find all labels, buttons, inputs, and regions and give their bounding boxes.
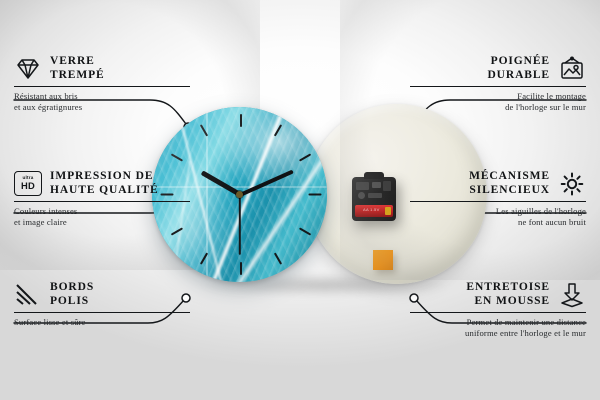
- ultra-hd-icon: ultra HD: [14, 171, 42, 197]
- feature-divider: [410, 312, 586, 313]
- feature-entretoise-en-mousse: ENTRETOISE EN MOUSSE Permet de maintenir…: [410, 281, 586, 339]
- feature-title: ENTRETOISE EN MOUSSE: [466, 281, 550, 308]
- feature-header: VERRE TREMPÉ: [14, 55, 190, 82]
- foam-spacer: [373, 250, 393, 270]
- battery-label: AA 1.5V: [363, 207, 380, 212]
- feature-title: POIGNÉE DURABLE: [487, 55, 550, 82]
- feature-title: VERRE TREMPÉ: [50, 55, 105, 82]
- feature-header: MÉCANISME SILENCIEUX: [410, 170, 586, 197]
- feature-header: ultra HD IMPRESSION DE HAUTE QUALITÉ: [14, 170, 190, 197]
- feature-description: Couleurs intenses et image claire: [14, 206, 190, 228]
- feature-verre-trempe: VERRE TREMPÉ Résistant aux bris et aux é…: [14, 55, 190, 113]
- feature-header: POIGNÉE DURABLE: [410, 55, 586, 82]
- feature-description: Permet de maintenir une distance uniform…: [410, 317, 586, 339]
- feature-divider: [14, 312, 190, 313]
- feature-description: Facilite le montage de l'horloge sur le …: [410, 91, 586, 113]
- polished-edges-icon: [14, 282, 42, 308]
- diamond-icon: [14, 56, 42, 82]
- feature-description: Les aiguilles de l'horloge ne font aucun…: [410, 206, 586, 228]
- mechanism-hanger: [364, 172, 384, 179]
- clock-mechanism: AA 1.5V: [352, 177, 396, 221]
- feature-divider: [14, 201, 190, 202]
- hanging-frame-icon: [558, 56, 586, 82]
- feature-mecanisme-silencieux: MÉCANISME SILENCIEUX Les aiguilles de l'…: [410, 170, 586, 228]
- feature-header: ENTRETOISE EN MOUSSE: [410, 281, 586, 308]
- feature-title: IMPRESSION DE HAUTE QUALITÉ: [50, 170, 159, 197]
- gear-icon: [558, 171, 586, 197]
- feature-title: BORDS POLIS: [50, 281, 94, 308]
- feature-impression-haute-qualite: ultra HD IMPRESSION DE HAUTE QUALITÉ Cou…: [14, 170, 190, 228]
- feature-poignee-durable: POIGNÉE DURABLE Facilite le montage de l…: [410, 55, 586, 113]
- feature-divider: [410, 201, 586, 202]
- battery-cap: [385, 207, 391, 215]
- feature-divider: [410, 86, 586, 87]
- feature-title: MÉCANISME SILENCIEUX: [469, 170, 550, 197]
- ultra-hd-icon-main-label: HD: [21, 181, 35, 190]
- mechanism-detail: [356, 181, 392, 201]
- feature-description: Surface lisse et sûre: [14, 317, 190, 328]
- battery: AA 1.5V: [355, 205, 393, 217]
- feature-bords-polis: BORDS POLIS Surface lisse et sûre: [14, 281, 190, 328]
- foam-spacer-icon: [558, 282, 586, 308]
- feature-header: BORDS POLIS: [14, 281, 190, 308]
- feature-divider: [14, 86, 190, 87]
- feature-description: Résistant aux bris et aux égratignures: [14, 91, 190, 113]
- infographic-canvas: AA 1.5V: [0, 0, 600, 400]
